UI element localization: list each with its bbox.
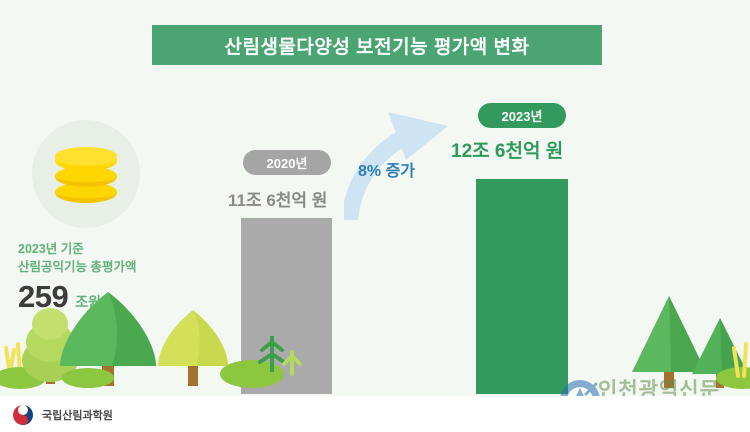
coin-stack-icon bbox=[32, 120, 140, 228]
summary-block: 2023년 기준 산림공익기능 총평가액 259 조원 bbox=[18, 120, 198, 315]
bar-label-pill-2023: 2023년 bbox=[478, 103, 566, 128]
bar-2023 bbox=[476, 179, 568, 394]
summary-value-row: 259 조원 bbox=[18, 279, 198, 315]
tree-light-left bbox=[22, 308, 78, 384]
title-banner: 산림생물다양성 보전기능 평가액 변화 bbox=[152, 25, 602, 65]
footer-bar: 국립산림과학원 bbox=[0, 396, 750, 432]
bar-label-pill-2020: 2020년 bbox=[243, 150, 331, 175]
korea-government-taegeuk-logo-icon bbox=[12, 404, 34, 426]
infographic-canvas: 산림생물다양성 보전기능 평가액 변화 2023년 기준 산림공익기능 총평가액… bbox=[0, 0, 750, 432]
growth-annotation-label: 8% 증가 bbox=[358, 157, 415, 181]
grass-tuft-left bbox=[0, 344, 46, 389]
tree-yellow-right bbox=[158, 310, 228, 386]
summary-total-unit: 조원 bbox=[75, 292, 101, 312]
bar-value-2020: 11조 6천억 원 bbox=[228, 186, 327, 211]
summary-caption-line1: 2023년 기준 bbox=[18, 240, 198, 258]
page-title: 산림생물다양성 보전기능 평가액 변화 bbox=[224, 32, 529, 59]
summary-caption-line2: 산림공익기능 총평가액 bbox=[18, 258, 198, 276]
summary-total-value: 259 bbox=[18, 279, 68, 315]
coin-face bbox=[55, 147, 117, 165]
bar-2020 bbox=[241, 218, 332, 394]
footer-logo: 국립산림과학원 bbox=[12, 404, 113, 426]
summary-caption: 2023년 기준 산림공익기능 총평가액 bbox=[18, 240, 198, 276]
footer-org-name: 국립산림과학원 bbox=[42, 407, 113, 423]
